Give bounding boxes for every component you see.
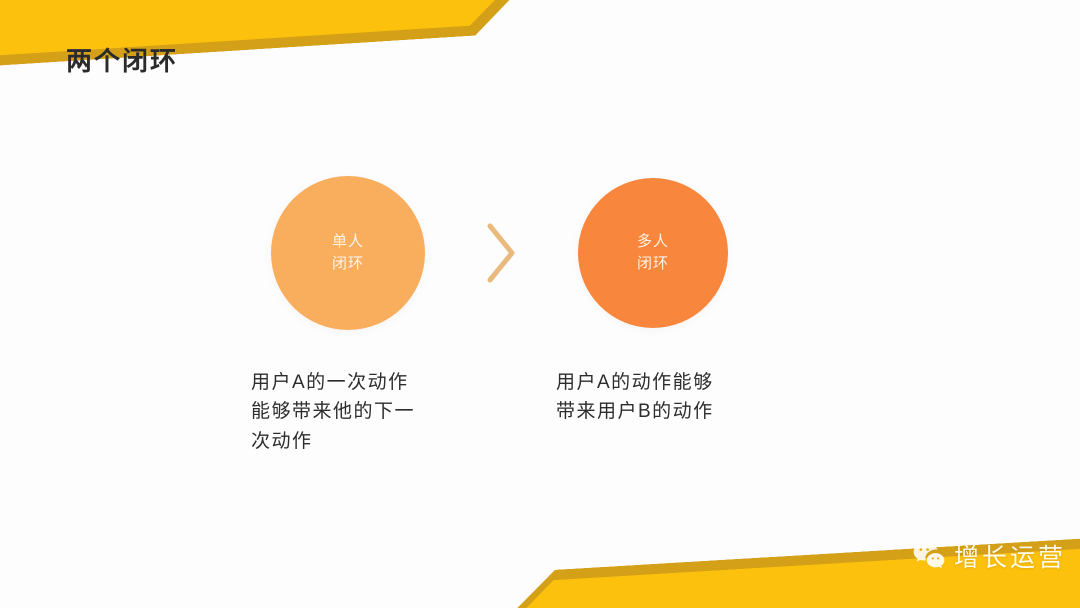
- caption-multi-loop: 用户A的动作能够 带来用户B的动作: [556, 368, 771, 427]
- caption-single-loop: 用户A的一次动作 能够带来他的下一 次动作: [251, 368, 466, 456]
- wechat-bubble-icon: [912, 541, 946, 571]
- page-title: 两个闭环: [66, 46, 178, 77]
- node-multi-loop[interactable]: 多人 闭环: [578, 178, 728, 328]
- node-multi-loop-label: 多人 闭环: [637, 231, 669, 276]
- slide-canvas: 两个闭环 单人 闭环 多人 闭环 用户A的一次动作 能够带来他的下一 次动作 用…: [0, 0, 1080, 608]
- watermark-text: 增长运营: [954, 538, 1066, 574]
- diagram-container: 单人 闭环 多人 闭环 用户A的一次动作 能够带来他的下一 次动作 用户A的动作…: [0, 0, 1080, 608]
- watermark: 增长运营: [912, 538, 1066, 574]
- node-single-loop-label: 单人 闭环: [332, 231, 364, 276]
- chevron-right-icon: [478, 218, 522, 288]
- node-single-loop[interactable]: 单人 闭环: [271, 176, 425, 330]
